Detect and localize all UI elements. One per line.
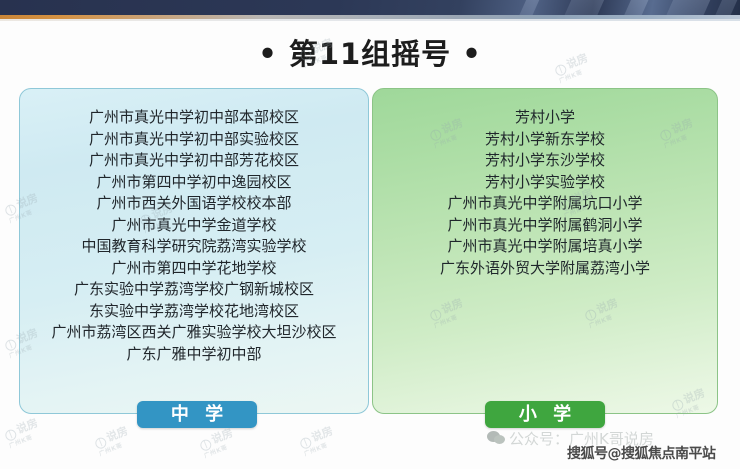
- tile-watermark: |说房广州K哥: [197, 424, 238, 459]
- tile-watermark: |说房广州K哥: [92, 422, 133, 457]
- page-title: • 第11组摇号 •: [0, 40, 740, 69]
- primary-school-panel: 芳村小学芳村小学新东学校芳村小学东沙学校芳村小学实验学校广州市真光中学附属坑口小…: [372, 88, 718, 414]
- tile-watermark: |说房广州K哥: [2, 414, 43, 449]
- tile-watermark: |说房广州K哥: [297, 422, 338, 457]
- school-name: 广东广雅中学初中部: [20, 344, 368, 366]
- school-name: 芳村小学新东学校: [373, 129, 717, 151]
- primary-school-list: 芳村小学芳村小学新东学校芳村小学东沙学校芳村小学实验学校广州市真光中学附属坑口小…: [373, 107, 717, 279]
- banner-streak-icon: [611, 0, 654, 15]
- school-name: 芳村小学: [373, 107, 717, 129]
- school-name: 中国教育科学研究院荔湾实验学校: [20, 236, 368, 258]
- middle-school-panel: 广州市真光中学初中部本部校区广州市真光中学初中部实验校区广州市真光中学初中部芳花…: [19, 88, 369, 414]
- banner-streak-icon: [655, 0, 715, 15]
- school-name: 广州市第四中学花地学校: [20, 258, 368, 280]
- school-name: 芳村小学东沙学校: [373, 150, 717, 172]
- middle-school-badge: 中 学: [137, 401, 257, 428]
- wechat-account-text: 公众号：广州K哥说房: [509, 428, 654, 449]
- school-name: 广州市真光中学附属鹤洞小学: [373, 215, 717, 237]
- wechat-icon: [487, 431, 505, 446]
- school-name: 广州市真光中学初中部本部校区: [20, 107, 368, 129]
- page-title-text: • 第11组摇号 •: [258, 40, 482, 69]
- school-name: 广州市第四中学初中逸园校区: [20, 172, 368, 194]
- banner-streak-icon: [702, 0, 740, 15]
- school-name: 广州市真光中学附属培真小学: [373, 236, 717, 258]
- wechat-account-watermark: 公众号：广州K哥说房: [487, 428, 654, 449]
- school-name: 广州市真光中学初中部实验校区: [20, 129, 368, 151]
- middle-school-list: 广州市真光中学初中部本部校区广州市真光中学初中部实验校区广州市真光中学初中部芳花…: [20, 107, 368, 365]
- slide-screen: • 第11组摇号 • 广州市真光中学初中部本部校区广州市真光中学初中部实验校区广…: [0, 0, 740, 469]
- banner-accent-line-secondary: [0, 19, 740, 21]
- primary-school-badge: 小 学: [485, 401, 605, 428]
- school-name: 芳村小学实验学校: [373, 172, 717, 194]
- school-name: 广东实验中学荔湾学校广钢新城校区: [20, 279, 368, 301]
- school-name: 广州市荔湾区西关广雅实验学校大坦沙校区: [20, 322, 368, 344]
- school-name: 东实验中学荔湾学校花地湾校区: [20, 301, 368, 323]
- school-name: 广东外语外贸大学附属荔湾小学: [373, 258, 717, 280]
- top-banner: [0, 0, 740, 15]
- school-name: 广州市真光中学金道学校: [20, 215, 368, 237]
- sohu-footer-watermark: 搜狐号@搜狐焦点南平站: [567, 443, 716, 463]
- school-name: 广州市西关外国语学校校本部: [20, 193, 368, 215]
- banner-streak-icon: [553, 0, 609, 15]
- school-name: 广州市真光中学附属坑口小学: [373, 193, 717, 215]
- banner-streak-icon: [506, 0, 545, 15]
- school-name: 广州市真光中学初中部芳花校区: [20, 150, 368, 172]
